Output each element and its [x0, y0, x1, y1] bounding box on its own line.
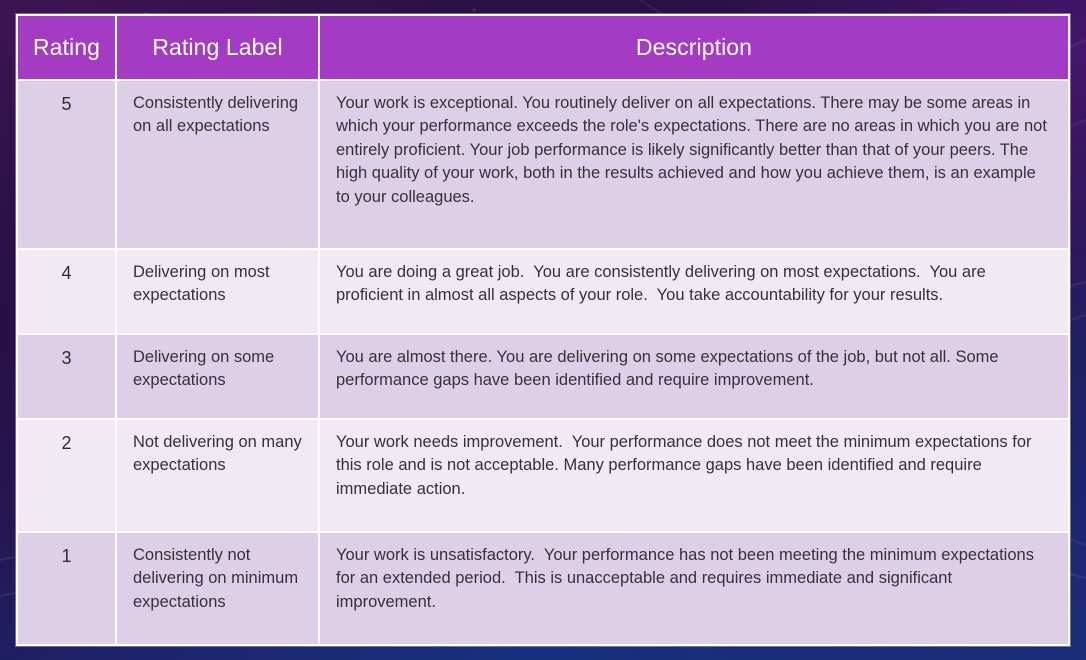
- cell-rating-label: Consistently delivering on all expectati…: [116, 80, 319, 249]
- cell-rating-label: Consistently not delivering on minimum e…: [116, 532, 319, 645]
- table-header: Rating Rating Label Description: [17, 15, 1069, 80]
- rating-scale-table-container: Rating Rating Label Description 5Consist…: [16, 14, 1070, 646]
- column-header-description: Description: [319, 15, 1069, 80]
- table-row: 4Delivering on most expectationsYou are …: [17, 249, 1069, 334]
- column-header-rating: Rating: [17, 15, 116, 80]
- cell-description: Your work needs improvement. Your perfor…: [319, 419, 1069, 532]
- cell-description: Your work is exceptional. You routinely …: [319, 80, 1069, 249]
- cell-rating: 3: [17, 334, 116, 419]
- cell-description: You are almost there. You are delivering…: [319, 334, 1069, 419]
- cell-rating-label: Delivering on most expectations: [116, 249, 319, 334]
- cell-rating: 2: [17, 419, 116, 532]
- cell-rating-label: Not delivering on many expectations: [116, 419, 319, 532]
- cell-description: You are doing a great job. You are consi…: [319, 249, 1069, 334]
- cell-rating-label: Delivering on some expectations: [116, 334, 319, 419]
- cell-description: Your work is unsatisfactory. Your perfor…: [319, 532, 1069, 645]
- table-body: 5Consistently delivering on all expectat…: [17, 80, 1069, 645]
- cell-rating: 5: [17, 80, 116, 249]
- header-row: Rating Rating Label Description: [17, 15, 1069, 80]
- rating-scale-table: Rating Rating Label Description 5Consist…: [16, 14, 1070, 646]
- table-row: 3Delivering on some expectationsYou are …: [17, 334, 1069, 419]
- column-header-rating-label: Rating Label: [116, 15, 319, 80]
- cell-rating: 1: [17, 532, 116, 645]
- table-row: 1Consistently not delivering on minimum …: [17, 532, 1069, 645]
- table-row: 5Consistently delivering on all expectat…: [17, 80, 1069, 249]
- cell-rating: 4: [17, 249, 116, 334]
- table-row: 2Not delivering on many expectationsYour…: [17, 419, 1069, 532]
